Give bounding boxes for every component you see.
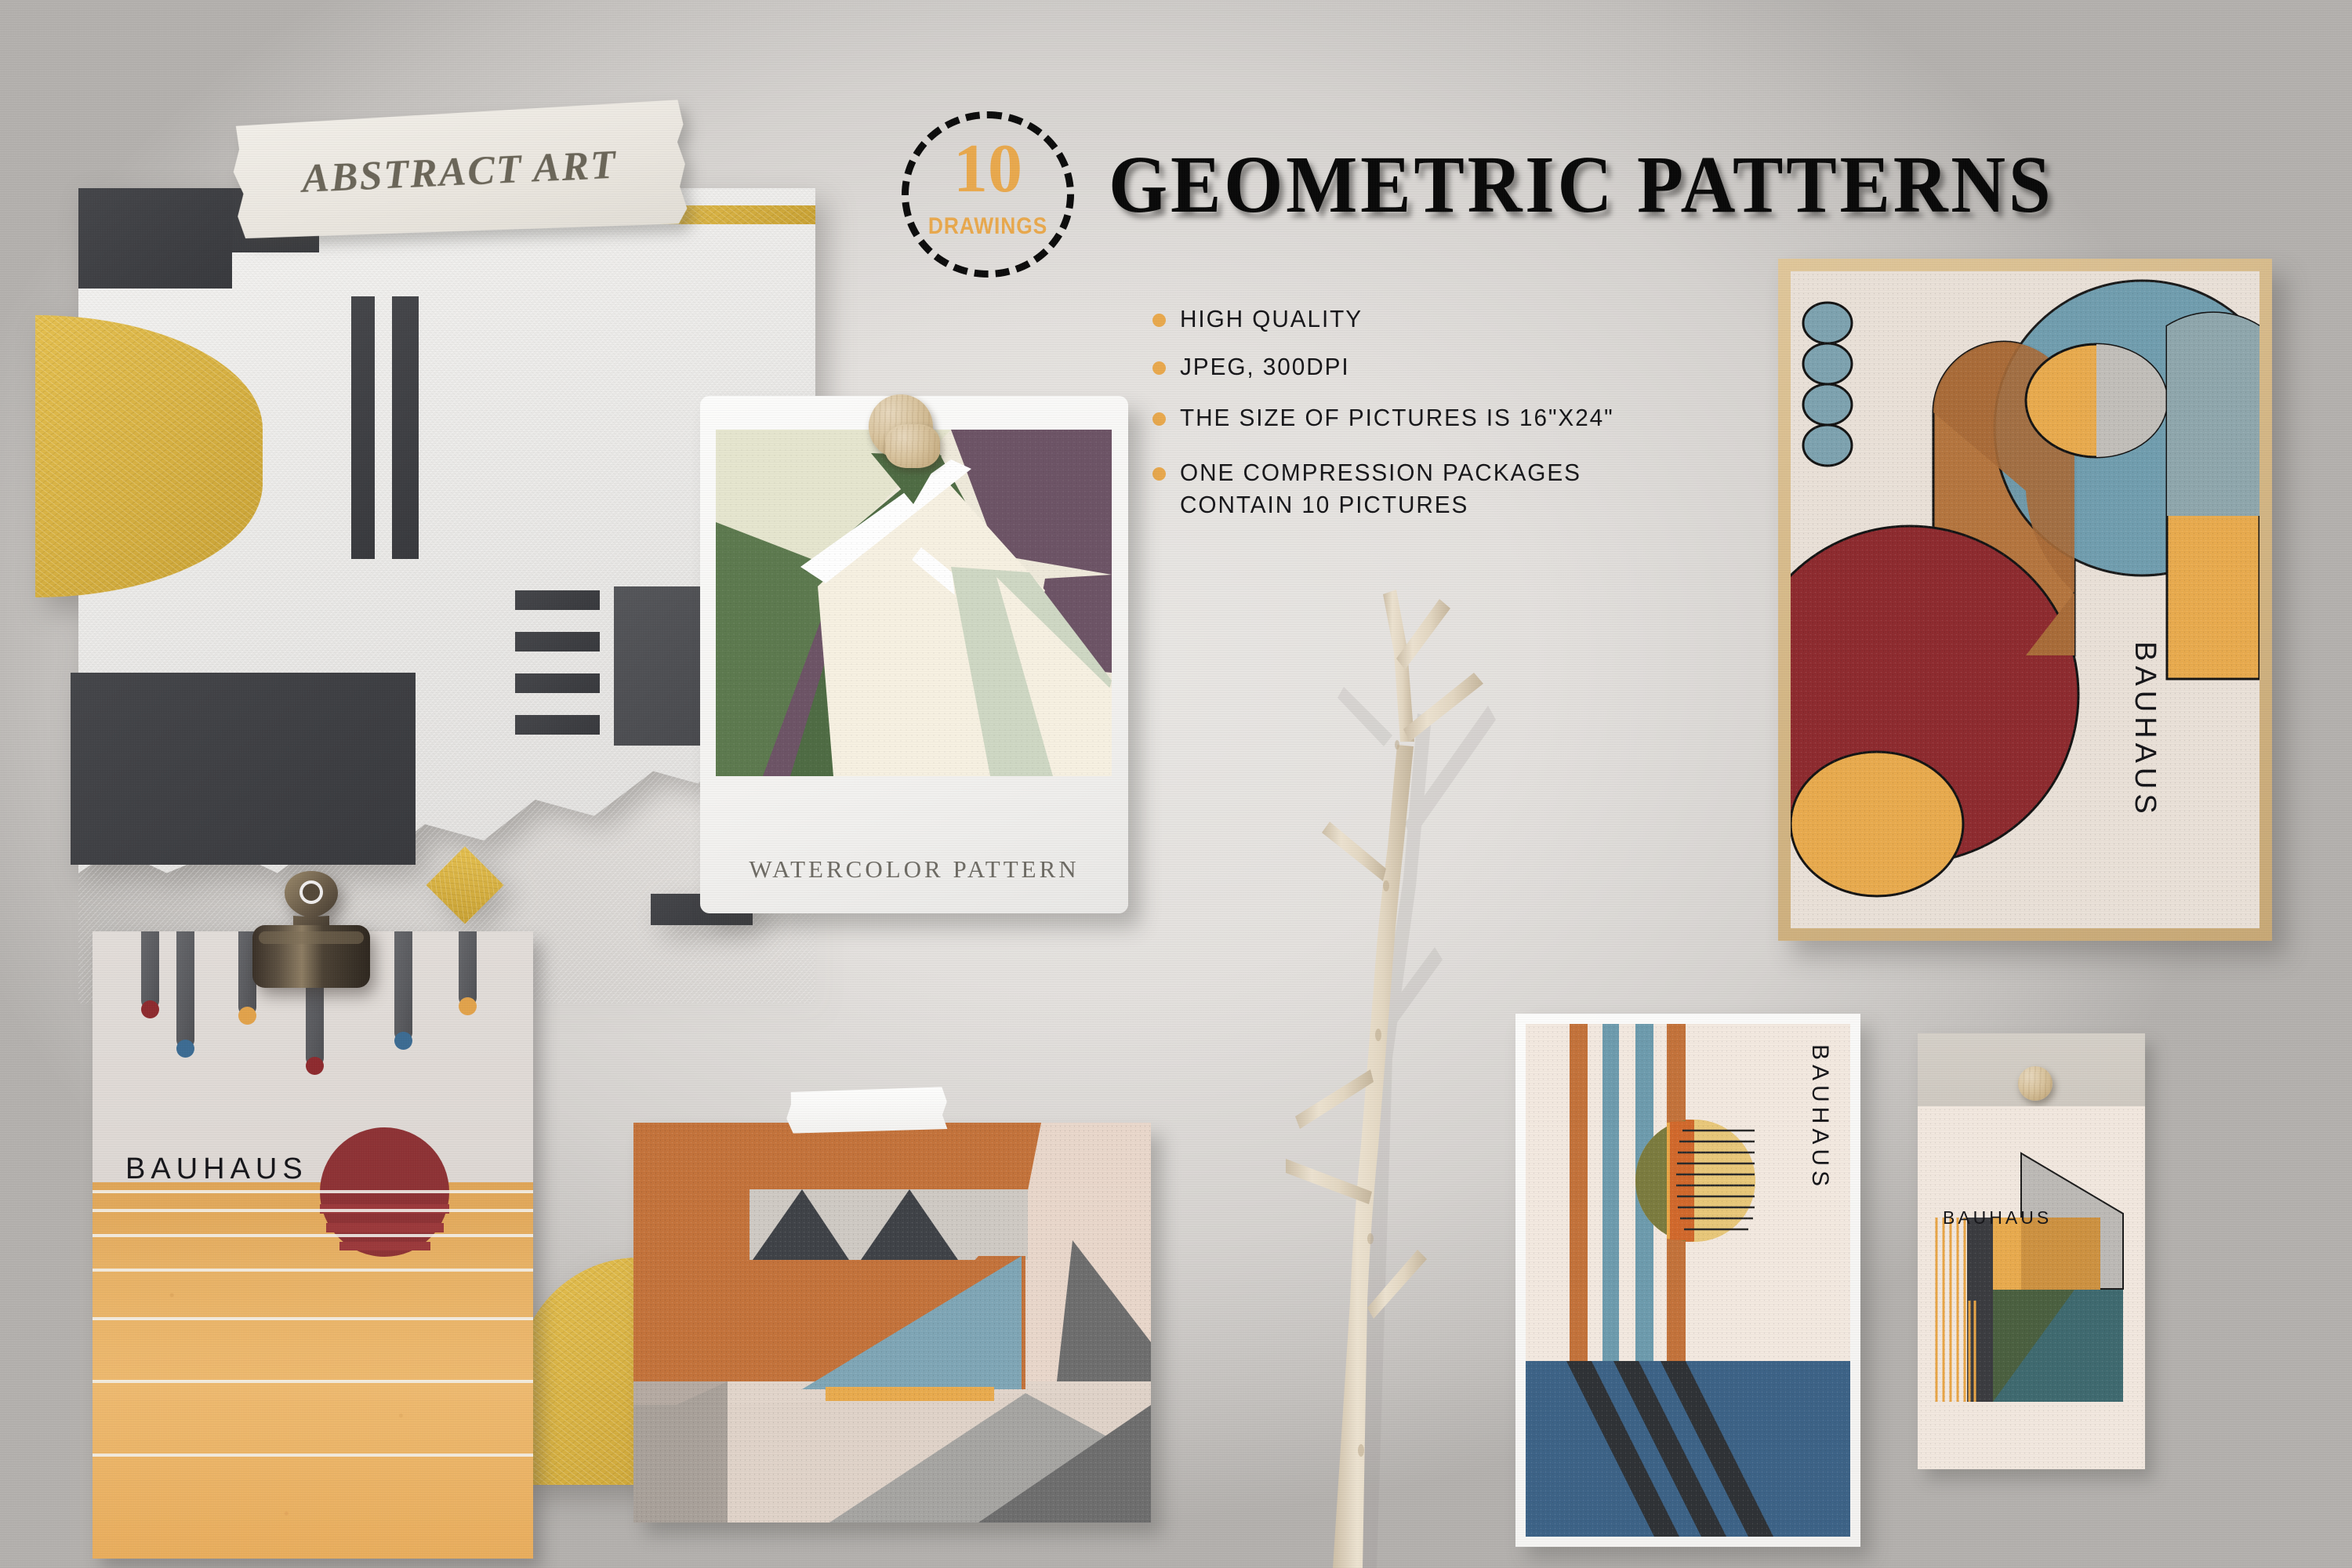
- rod-cap-blue: [176, 1040, 194, 1058]
- poster-gradient-field: [93, 1182, 533, 1559]
- poster-sun-band-2: [326, 1223, 444, 1232]
- poster-hline: [93, 1454, 533, 1457]
- polaroid-caption: WATERCOLOR PATTERN: [700, 855, 1128, 884]
- feature-item-3: THE SIZE OF PICTURES IS 16"X24": [1152, 402, 1632, 434]
- feature-text: JPEG, 300DPI: [1180, 351, 1350, 383]
- poster-hline: [93, 1234, 533, 1237]
- bullet-dot-icon: [1152, 361, 1166, 375]
- poster-hline: [93, 1317, 533, 1320]
- wooden-ball-knob-icon: [2018, 1066, 2053, 1101]
- feature-item-4: ONE COMPRESSION PACKAGES CONTAIN 10 PICT…: [1152, 457, 1598, 521]
- badge-word: DRAWINGS: [912, 213, 1064, 240]
- rod-2: [176, 931, 194, 1049]
- collage-vertical-bar-2: [392, 296, 419, 559]
- collage-small-bar-2: [515, 632, 600, 652]
- feature-item-2: JPEG, 300DPI: [1152, 351, 1357, 383]
- watercolor-mountain-illustration: [716, 430, 1112, 776]
- abstract-art-label: ABSTRACT ART: [231, 100, 688, 244]
- rod-1: [141, 931, 159, 1010]
- rod-cap-amber: [238, 1007, 256, 1025]
- watercolor-polaroid: WATERCOLOR PATTERN: [700, 396, 1128, 913]
- small-poster-art: BAUHAUS: [1526, 1024, 1850, 1537]
- feature-item-1: HIGH QUALITY: [1152, 303, 1370, 336]
- page-title: GEOMETRIC PATTERNS: [1109, 138, 1984, 231]
- bauhaus-small-framed-poster: BAUHAUS: [1515, 1014, 1860, 1547]
- tiny-poster-label: BAUHAUS: [1943, 1207, 2052, 1229]
- bauhaus-clipboard-poster: BAUHAUS: [93, 931, 533, 1559]
- rod-cap-blue-2: [394, 1032, 412, 1050]
- poster-sun-band-3: [339, 1242, 430, 1250]
- polaroid-photo: [716, 430, 1112, 776]
- white-tape-strip: [786, 1087, 948, 1134]
- collage-vertical-bar-1: [351, 296, 375, 559]
- framed-poster-art: BAUHAUS: [1791, 271, 2259, 928]
- geometric-canvas-artwork: [633, 1123, 1151, 1523]
- collage-small-bar-3: [515, 673, 600, 693]
- mockup-canvas: ABSTRACT ART 10 DRAWINGS GEOMETRIC PATTE…: [0, 0, 2352, 1568]
- tiny-poster-illustration: [1918, 1106, 2145, 1469]
- wooden-knob-stem-icon: [885, 424, 940, 468]
- framed-poster-illustration: [1791, 271, 2259, 928]
- rod-cap-red: [141, 1000, 159, 1018]
- canvas-illustration: [633, 1123, 1151, 1523]
- rod-5: [394, 931, 412, 1042]
- small-poster-label: BAUHAUS: [1806, 1044, 1833, 1191]
- collage-dark-block-bottom: [71, 673, 416, 865]
- collage-dark-bar-topleft-2: [78, 188, 232, 289]
- badge-number: 10: [902, 135, 1074, 204]
- framed-poster-label: BAUHAUS: [2128, 641, 2161, 818]
- collage-small-bar-4: [515, 715, 600, 735]
- bauhaus-framed-poster: BAUHAUS: [1778, 259, 2272, 941]
- collage-grey-rect: [614, 586, 700, 746]
- binder-clip-icon: [235, 869, 387, 1004]
- feature-text: ONE COMPRESSION PACKAGES CONTAIN 10 PICT…: [1180, 457, 1581, 521]
- small-poster-illustration: [1526, 1024, 1850, 1537]
- bullet-dot-icon: [1152, 467, 1166, 481]
- rod-cap-amber-2: [459, 997, 477, 1015]
- rod-cap-red-2: [306, 1057, 324, 1075]
- feature-text: THE SIZE OF PICTURES IS 16"X24": [1180, 402, 1614, 434]
- poster-hline: [93, 1190, 533, 1193]
- collage-gold-semicircle: [35, 315, 263, 597]
- decorative-branch: [1286, 549, 1552, 1568]
- clipboard-poster-label: BAUHAUS: [125, 1152, 308, 1186]
- rod-6: [459, 931, 477, 1007]
- poster-hline: [93, 1269, 533, 1272]
- poster-hline: [93, 1380, 533, 1383]
- bullet-dot-icon: [1152, 314, 1166, 327]
- feature-text: HIGH QUALITY: [1180, 303, 1363, 336]
- collage-small-bar-1: [515, 590, 600, 610]
- bauhaus-tiny-poster: BAUHAUS: [1918, 1033, 2145, 1469]
- bullet-dot-icon: [1152, 412, 1166, 426]
- drawings-count-badge: 10 DRAWINGS: [902, 111, 1074, 278]
- poster-hline: [93, 1209, 533, 1212]
